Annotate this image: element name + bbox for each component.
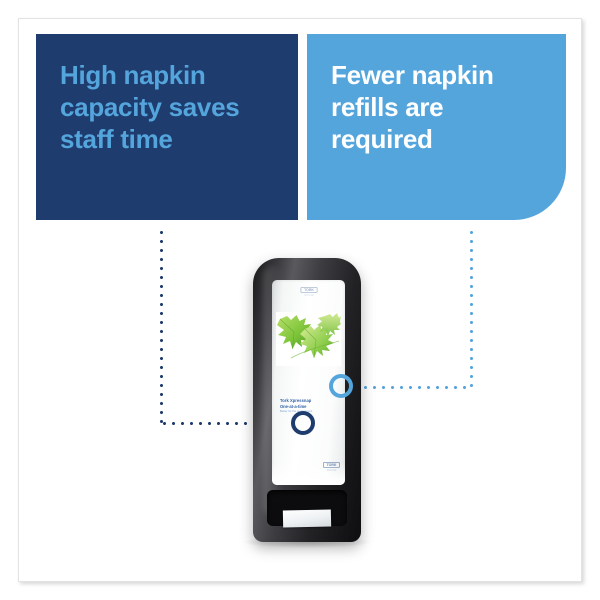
callout-ring-high-capacity: [291, 411, 315, 435]
napkin-dispenser-product: TORK xpressnap: [253, 258, 361, 542]
connector-line-refills-horizontal: [352, 386, 472, 389]
connector-line-refills-vertical: [470, 228, 473, 388]
benefit-panel-high-capacity: High napkin capacity saves staff time: [36, 34, 298, 220]
connector-line-capacity-vertical: [160, 228, 163, 425]
product-benefit-poster: High napkin capacity saves staff time Fe…: [0, 0, 600, 600]
benefit-text-high-capacity: High napkin capacity saves staff time: [60, 60, 276, 156]
svg-text:TORK: TORK: [304, 288, 314, 292]
svg-text:xpressnap: xpressnap: [327, 468, 337, 471]
svg-text:xpressnap: xpressnap: [304, 293, 314, 296]
benefit-panel-fewer-refills: Fewer napkin refills are required: [307, 34, 566, 220]
tork-logo-icon: TORK xpressnap: [300, 287, 317, 296]
svg-text:TORK: TORK: [327, 463, 337, 467]
protruding-napkin: [283, 509, 331, 527]
callout-ring-fewer-refills: [329, 374, 353, 398]
maple-leaf-graphic: [276, 312, 341, 366]
benefit-text-fewer-refills: Fewer napkin refills are required: [331, 60, 544, 156]
tork-logo-icon: TORK xpressnap: [323, 462, 340, 471]
